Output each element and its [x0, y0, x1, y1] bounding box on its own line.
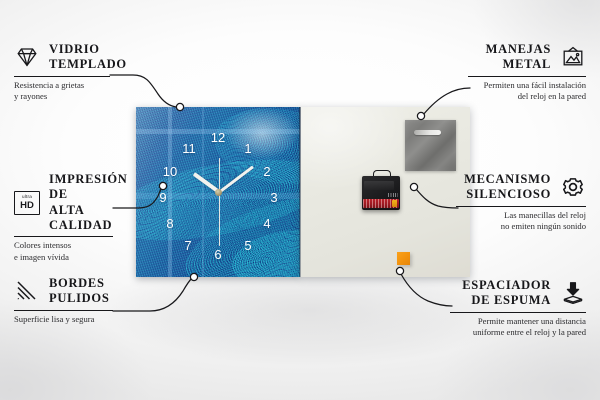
callout-tempered-glass: VIDRIO TEMPLADO Resistencia a grietas y …: [14, 42, 110, 103]
callout-title: VIDRIO TEMPLADO: [49, 42, 127, 73]
mechanism-label: [364, 181, 394, 190]
battery-terminal: [392, 200, 397, 207]
ultra-hd-badge-icon: ultra HD: [14, 190, 40, 216]
callout-title: MECANISMO SILENCIOSO: [464, 172, 551, 203]
callout-description: Las manecillas del reloj no emiten ningú…: [456, 210, 586, 234]
callout-title: BORDES PULIDOS: [49, 276, 109, 307]
callout-rule: [14, 310, 113, 311]
callout-description: Permite mantener una distancia uniforme …: [450, 316, 586, 340]
callout-header: MECANISMO SILENCIOSO: [456, 172, 586, 203]
ultra-hd-badge-ultra-label: ultra: [22, 195, 32, 200]
callout-high-quality-print: ultra HD IMPRESIÓN DE ALTA CALIDAD Color…: [14, 172, 113, 264]
clock-numeral-12: 12: [209, 131, 227, 144]
callout-header: ESPACIADOR DE ESPUMA: [450, 278, 586, 309]
callout-description: Permiten una fácil instalación del reloj…: [468, 80, 586, 104]
clock-second-hand: [219, 158, 220, 246]
silent-clock-mechanism: [362, 170, 400, 210]
framed-picture-icon: [560, 44, 586, 70]
panel-seam: [299, 107, 301, 277]
mechanism-body: [362, 176, 400, 210]
mechanism-battery: [363, 199, 399, 208]
clock-numeral-7: 7: [179, 239, 197, 252]
callout-silent-mechanism: MECANISMO SILENCIOSO Las manecillas del …: [456, 172, 586, 233]
callout-description: Superficie lisa y segura: [14, 314, 113, 326]
pattern-grid-line: [202, 107, 204, 277]
clock-back-panel: [300, 107, 470, 277]
gear-icon: [560, 174, 586, 200]
clock-numeral-2: 2: [258, 165, 276, 178]
clock-numeral-4: 4: [258, 217, 276, 230]
callout-rule: [14, 76, 110, 77]
callout-title: ESPACIADOR DE ESPUMA: [462, 278, 551, 309]
clock-numeral-6: 6: [209, 248, 227, 261]
callout-rule: [456, 206, 586, 207]
foam-spacer: [397, 252, 410, 265]
metal-hanger-plate: [405, 120, 456, 171]
clock-numeral-5: 5: [239, 239, 257, 252]
callout-foam-spacer: ESPACIADOR DE ESPUMA Permite mantener un…: [450, 278, 586, 339]
callout-description: Colores intensos e imagen vívida: [14, 240, 113, 264]
callout-rule: [450, 312, 586, 313]
infographic-canvas: 12 1 2 3 4 5 6 7 8 9 10 11: [0, 0, 600, 400]
clock-numeral-1: 1: [239, 142, 257, 155]
connector-path-tempered-glass: [110, 75, 176, 107]
clock-numeral-10: 10: [161, 165, 179, 178]
clock-minute-hand: [218, 166, 253, 194]
diagonal-lines-icon: [14, 278, 40, 304]
callout-metal-handles: MANEJAS METAL Permiten una fácil instala…: [468, 42, 586, 103]
clock-center-cap: [215, 189, 222, 196]
clock-numeral-11: 11: [180, 142, 198, 155]
callout-title: IMPRESIÓN DE ALTA CALIDAD: [49, 172, 128, 233]
arrow-down-stack-icon: [560, 280, 586, 306]
callout-description: Resistencia a grietas y rayones: [14, 80, 110, 104]
clock-numeral-8: 8: [161, 217, 179, 230]
diamond-icon: [14, 44, 40, 70]
callout-rule: [468, 76, 586, 77]
clock-numeral-9: 9: [154, 191, 172, 204]
callout-header: VIDRIO TEMPLADO: [14, 42, 110, 73]
ultra-hd-badge-hd-label: HD: [20, 201, 34, 211]
mechanism-vents: [388, 193, 398, 197]
product-image: 12 1 2 3 4 5 6 7 8 9 10 11: [136, 107, 470, 277]
callout-header: ultra HD IMPRESIÓN DE ALTA CALIDAD: [14, 172, 113, 233]
callout-title: MANEJAS METAL: [486, 42, 551, 73]
clock-numeral-3: 3: [265, 191, 283, 204]
callout-polished-edges: BORDES PULIDOS Superficie lisa y segura: [14, 276, 113, 325]
hanger-slot: [414, 130, 441, 135]
callout-rule: [14, 236, 113, 237]
callout-header: BORDES PULIDOS: [14, 276, 113, 307]
callout-header: MANEJAS METAL: [468, 42, 586, 73]
printed-glass-clock-face: 12 1 2 3 4 5 6 7 8 9 10 11: [136, 107, 300, 277]
